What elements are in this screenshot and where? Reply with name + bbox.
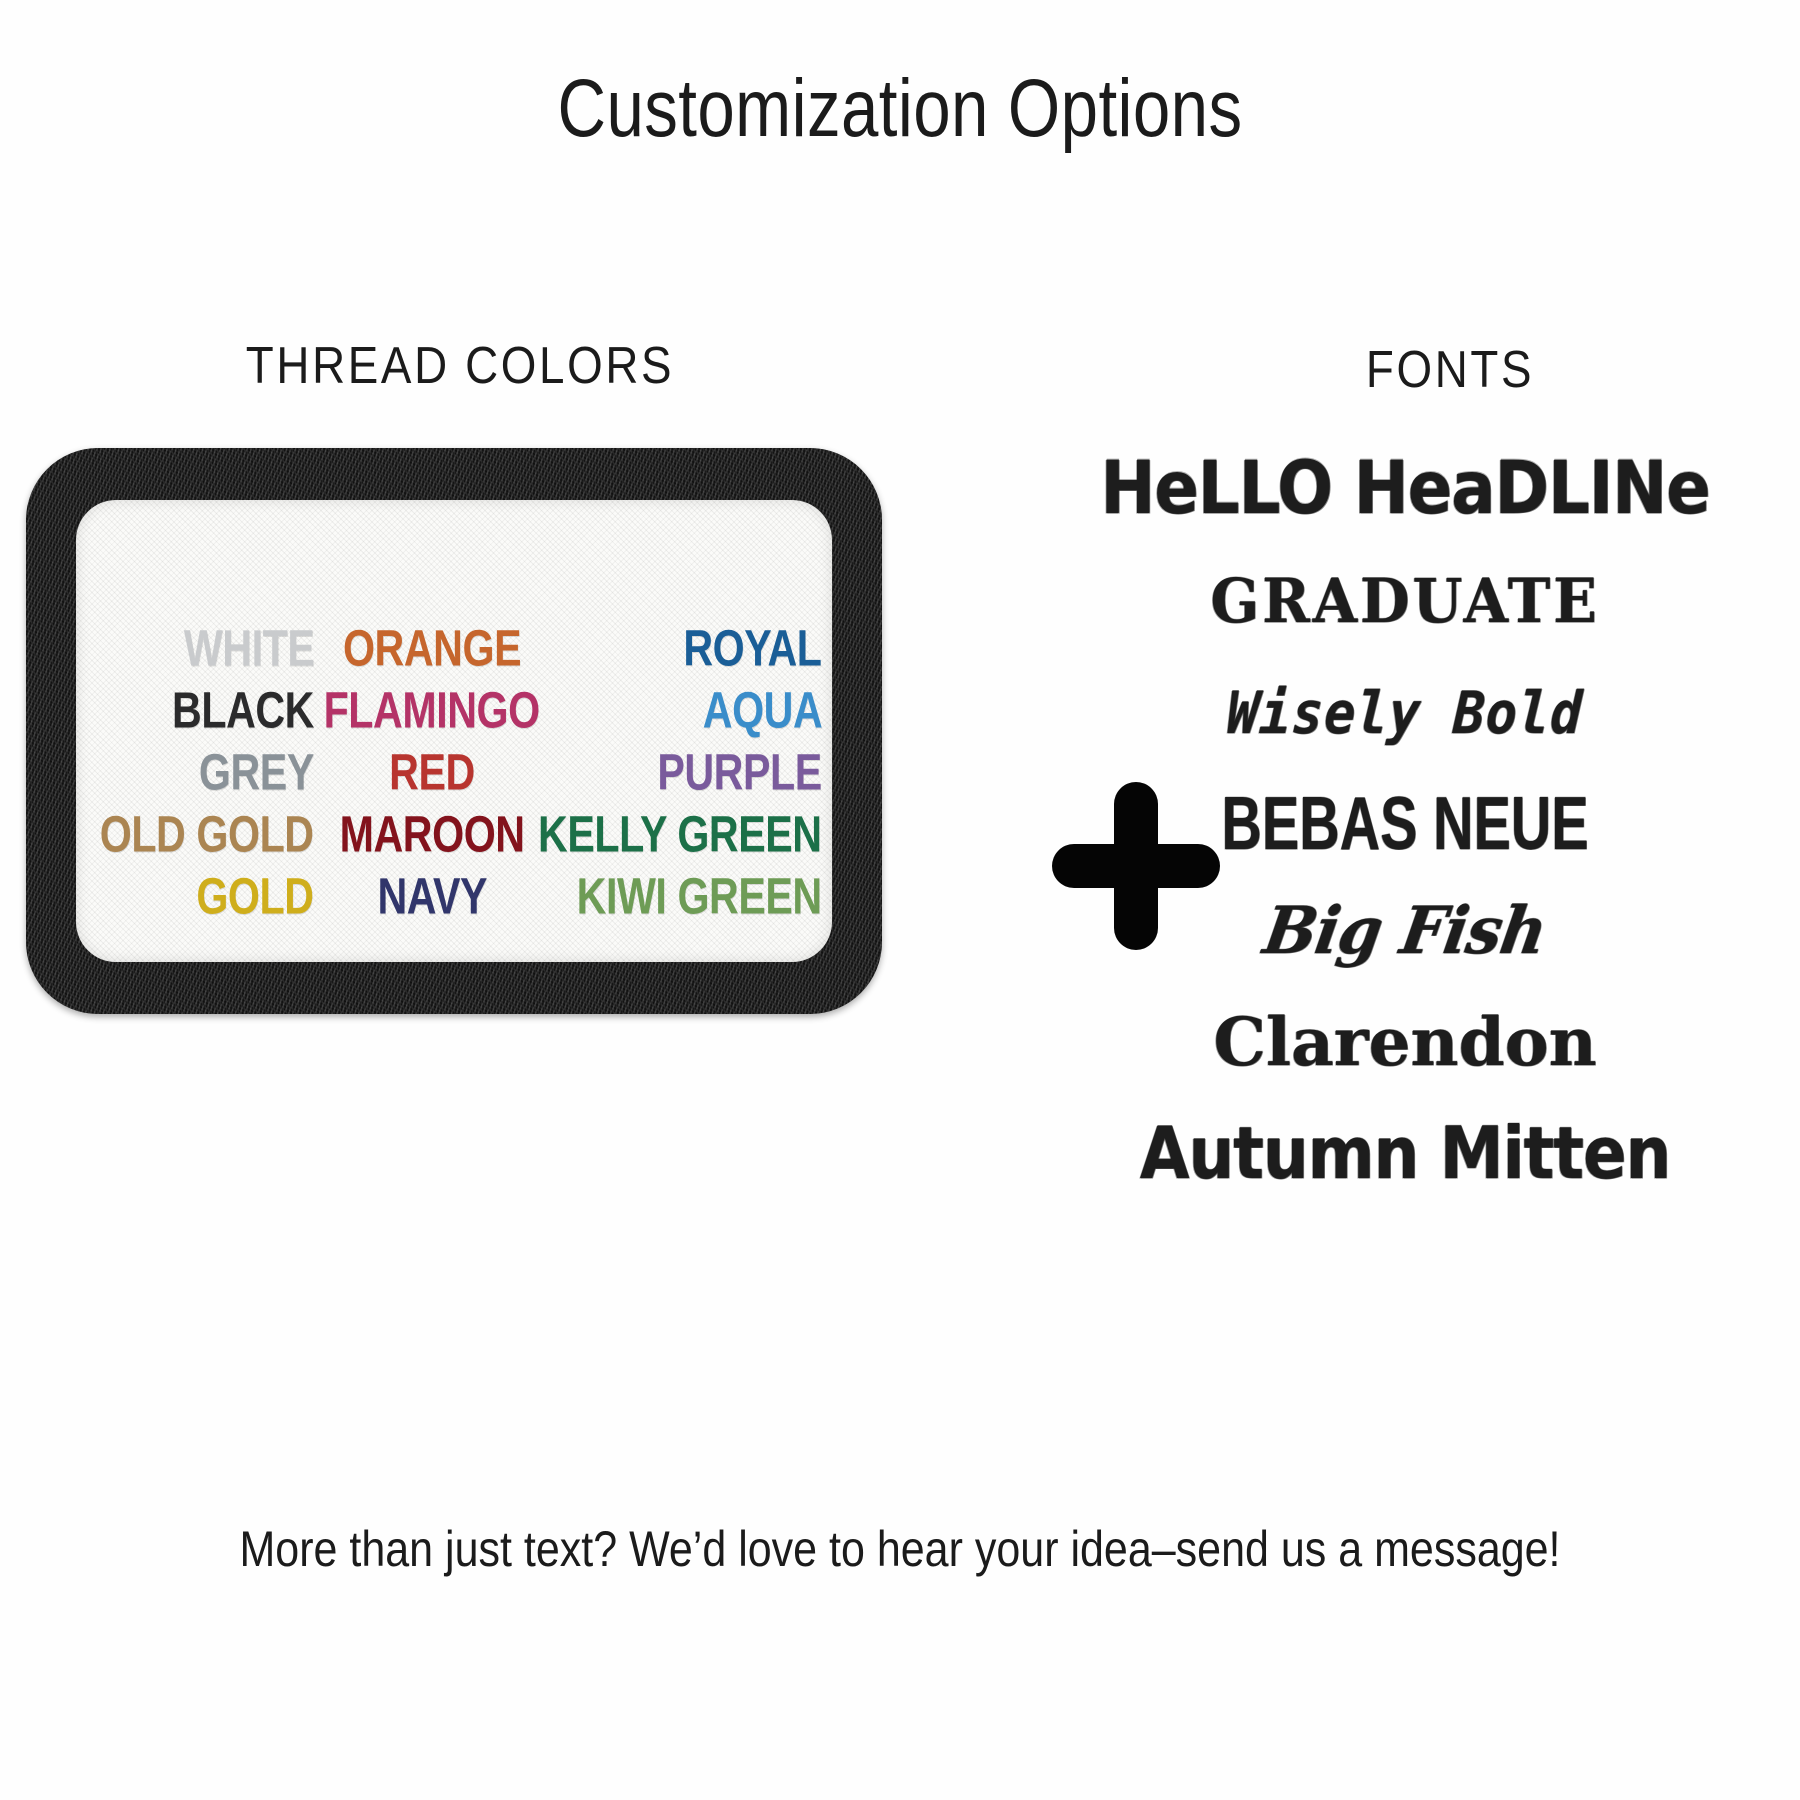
thread-color-purple: PURPLE (658, 741, 822, 805)
thread-color-orange: ORANGE (343, 617, 521, 681)
font-sample-bebas-neue: BEBAS NEUE (1113, 766, 1697, 880)
font-samples-list: HeLLO HeaDLINe GRADUATE Wisely Bold BEBA… (1040, 430, 1770, 1210)
thread-color-column-2: ORANGE FLAMINGO RED MAROON NAVY (314, 618, 550, 948)
font-sample-clarendon: Clarendon (1040, 986, 1770, 1098)
font-sample-big-fish: Big Fish (1031, 873, 1779, 989)
thread-color-white: WHITE (183, 617, 314, 681)
thread-color-navy: NAVY (377, 865, 487, 929)
font-sample-hello-headline: HeLLO HeaDLINe (1018, 420, 1792, 557)
thread-color-aqua: AQUA (702, 679, 822, 743)
thread-color-maroon: MAROON (340, 803, 525, 867)
footer-note: More than just text? We’d love to hear y… (126, 1520, 1674, 1578)
thread-color-kiwi-green: KIWI GREEN (577, 865, 822, 929)
thread-color-grid: WHITE BLACK GREY OLD GOLD GOLD ORANGE FL… (76, 618, 832, 948)
thread-color-flamingo: FLAMINGO (324, 679, 540, 743)
fonts-heading: FONTS (1221, 340, 1679, 400)
thread-color-royal: ROYAL (684, 617, 822, 681)
font-sample-wisely-bold: Wisely Bold (1037, 651, 1774, 776)
thread-color-kelly-green: KELLY GREEN (538, 803, 822, 867)
thread-color-gold: GOLD (197, 865, 314, 929)
thread-colors-heading: THREAD COLORS (152, 336, 768, 396)
page-title: Customization Options (162, 62, 1638, 156)
thread-color-column-1: WHITE BLACK GREY OLD GOLD GOLD (86, 618, 314, 948)
font-sample-autumn-mitten: Autumn Mitten (1033, 1090, 1778, 1218)
thread-color-grey: GREY (199, 741, 314, 805)
thread-color-black: BLACK (172, 679, 314, 743)
font-sample-graduate: GRADUATE (1062, 546, 1748, 658)
customization-options-graphic: Customization Options THREAD COLORS FONT… (0, 0, 1800, 1800)
thread-color-patch-image: WHITE BLACK GREY OLD GOLD GOLD ORANGE FL… (26, 448, 882, 1014)
patch-face: WHITE BLACK GREY OLD GOLD GOLD ORANGE FL… (76, 500, 832, 962)
thread-color-old-gold: OLD GOLD (100, 803, 314, 867)
thread-color-column-3: ROYAL AQUA PURPLE KELLY GREEN KIWI GREEN (550, 618, 822, 948)
thread-color-red: RED (389, 741, 475, 805)
